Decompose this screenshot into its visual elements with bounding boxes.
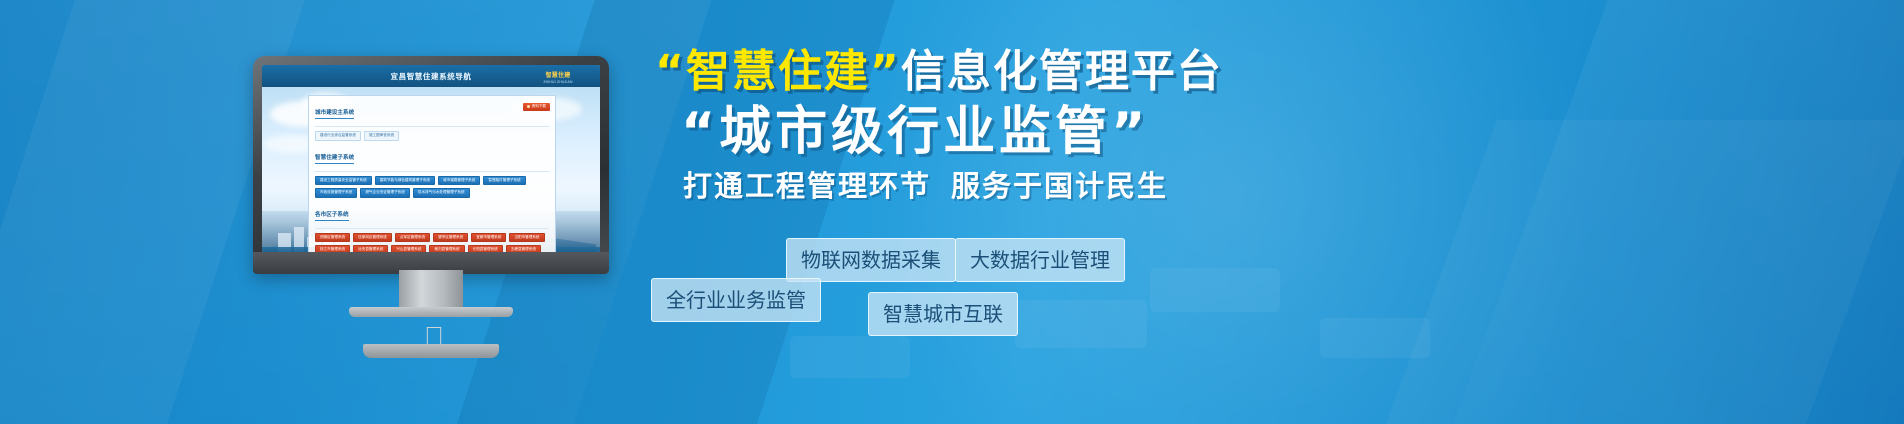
portal-section-0: 城市建设主系统 建设行业综合监管系统 施工图审查系统 (315, 101, 549, 141)
monitor-bezel: 宜昌智慧住建系统导航 智慧住建 ZHIHUI ZHUJIAN (253, 56, 609, 274)
portal-item[interactable]: 建设行业综合监管系统 (315, 131, 361, 141)
portal-item[interactable]: 当阳市管理系统 (509, 233, 544, 243)
portal-section-1-title: 智慧住建子系统 (315, 153, 354, 164)
portal-section-0-title: 城市建设主系统 (315, 108, 354, 119)
portal-item[interactable]: 建设工程质量安全监管子系统 (315, 176, 372, 186)
divider-1 (315, 171, 549, 172)
feature-tag-iot-data[interactable]: 物联网数据采集 (786, 238, 956, 282)
portal-item[interactable]: 宜都市管理系统 (471, 233, 506, 243)
monitor-stand-neck (399, 270, 463, 312)
portal-section-2-title: 各市区子系统 (315, 210, 349, 221)
portal-item[interactable]: 兴山县管理系统 (391, 245, 426, 252)
soft-rect-4 (1320, 318, 1430, 358)
feature-tag-industry-supervision[interactable]: 全行业业务监管 (651, 278, 821, 322)
headline-line-1-rest: 信息化管理平台 (901, 46, 1223, 97)
portal-item[interactable]: 枝江市管理系统 (315, 245, 350, 252)
portal-item[interactable]: 伍家岗区管理系统 (353, 233, 392, 243)
download-button[interactable]: 资料下载 (523, 103, 550, 111)
headline-line-3: 打通工程管理环节服务于国计民生 (655, 164, 1835, 208)
portal-item[interactable]: 建筑节能与绿色建筑管理子系统 (375, 176, 435, 186)
headline-line-3-part2: 服务于国计民生 (951, 169, 1168, 203)
portal-item[interactable]: 秭归县管理系统 (429, 245, 464, 252)
portal-item[interactable]: 猇亭区管理系统 (433, 233, 468, 243)
monitor-screen: 宜昌智慧住建系统导航 智慧住建 ZHIHUI ZHUJIAN (262, 65, 600, 252)
portal-nav-card: 资料下载 城市建设主系统 建设行业综合监管系统 施工图审查系统 (308, 95, 556, 252)
portal-item[interactable]: 燃气企业安证管理子系统 (360, 188, 410, 198)
divider-2 (315, 228, 549, 229)
soft-rect-1 (1015, 300, 1147, 348)
portal-title: 宜昌智慧住建系统导航 (391, 71, 472, 82)
headline-quote-close: ” (870, 46, 901, 97)
portal-logo: 智慧住建 ZHIHUI ZHUJIAN (520, 68, 596, 85)
portal-item[interactable]: 长阳县管理系统 (468, 245, 503, 252)
portal-item[interactable]: 城市道路管理子系统 (438, 176, 480, 186)
headline-quote-open: “ (655, 46, 686, 97)
portal-item[interactable]: 供水排气污水处理管理子系统 (413, 188, 470, 198)
portal-header: 宜昌智慧住建系统导航 智慧住建 ZHIHUI ZHUJIAN (262, 65, 600, 87)
portal-logo-line2: ZHIHUI ZHUJIAN (543, 80, 572, 84)
portal-item[interactable]: 市政设施管理子系统 (315, 188, 357, 198)
portal-section-0-items: 建设行业综合监管系统 施工图审查系统 (315, 131, 549, 141)
portal-item[interactable]: 点军区管理系统 (395, 233, 430, 243)
portal-logo-line1: 智慧住建 (546, 70, 571, 79)
soft-rect-3 (790, 336, 910, 378)
headline-line-2: “城市级行业监管” (655, 100, 1835, 164)
feature-tag-smart-city[interactable]: 智慧城市互联 (868, 292, 1018, 336)
soft-rect-2 (1150, 268, 1280, 312)
portal-item[interactable]: 施工图审查系统 (364, 131, 399, 141)
headline-line-3-part1: 打通工程管理环节 (683, 169, 931, 203)
headline-block: “智慧住建”信息化管理平台 “城市级行业监管” 打通工程管理环节服务于国计民生 (655, 44, 1835, 208)
feature-tag-bigdata-management[interactable]: 大数据行业管理 (955, 238, 1125, 282)
monitor-stand-base (349, 307, 513, 317)
portal-item[interactable]: 五峰县管理系统 (506, 245, 541, 252)
monitor-mockup: 宜昌智慧住建系统导航 智慧住建 ZHIHUI ZHUJIAN (253, 56, 609, 306)
portal-item[interactable]: 西陵区管理系统 (315, 233, 350, 243)
portal-section-1-items: 建设工程质量安全监管子系统 建筑节能与绿色建筑管理子系统 城市道路管理子系统 智… (315, 176, 549, 198)
portal-item[interactable]: 智慧路灯管理子系统 (483, 176, 525, 186)
headline-line-1: “智慧住建”信息化管理平台 (655, 44, 1835, 100)
portal-section-2-items: 西陵区管理系统 伍家岗区管理系统 点军区管理系统 猇亭区管理系统 宜都市管理系统… (315, 233, 549, 252)
portal-item[interactable]: 远安县管理系统 (353, 245, 388, 252)
portal-section-2: 各市区子系统 西陵区管理系统 伍家岗区管理系统 点军区管理系统 猇亭区管理系统 … (315, 203, 549, 252)
download-icon (527, 105, 530, 108)
promo-banner: 宜昌智慧住建系统导航 智慧住建 ZHIHUI ZHUJIAN (0, 0, 1904, 424)
divider-0 (315, 126, 549, 127)
download-label: 资料下载 (532, 105, 546, 109)
portal-hero-sky: 资料下载 城市建设主系统 建设行业综合监管系统 施工图审查系统 (262, 87, 600, 252)
portal-section-1: 智慧住建子系统 建设工程质量安全监管子系统 建筑节能与绿色建筑管理子系统 城市道… (315, 146, 549, 198)
headline-highlight: 智慧住建 (686, 46, 870, 97)
monitor-foot (363, 344, 499, 358)
